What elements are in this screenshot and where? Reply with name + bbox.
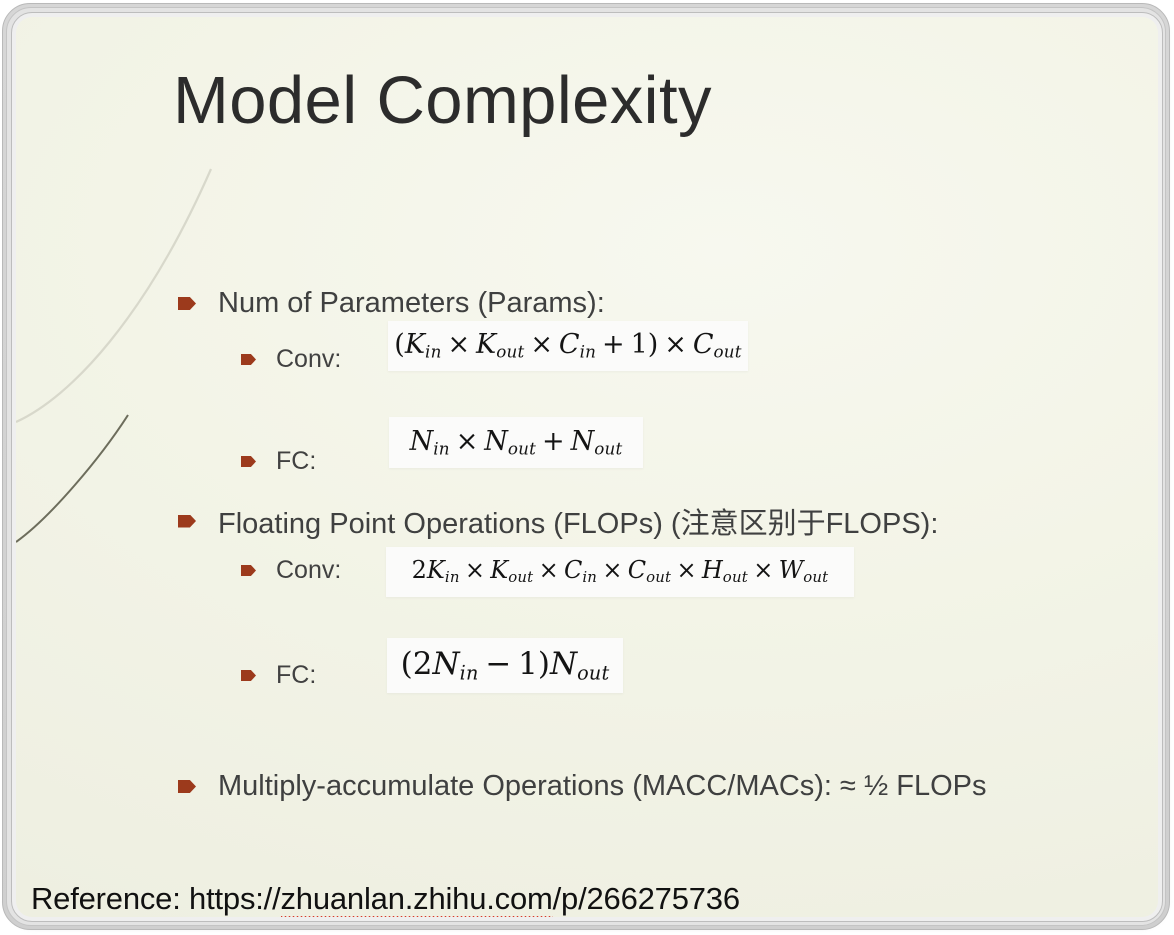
- reference-misspelled-url: zhuanlan.zhihu.com: [281, 881, 553, 917]
- sub-bullet-label: Conv:: [276, 556, 341, 585]
- sub-bullet-params-conv: Conv:: [241, 345, 341, 374]
- sub-bullet-flops-conv: Conv:: [241, 556, 341, 585]
- bullet-num-of-parameters: Num of Parameters (Params):: [178, 287, 605, 320]
- formula-box-flops-fc: (2Nin−1)Nout: [387, 638, 623, 693]
- arrow-pentagon-bullet-icon: [241, 456, 256, 467]
- bullet-label: Multiply-accumulate Operations (MACC/MAC…: [218, 770, 987, 803]
- formula-box-params-conv: (Kin×Kout×Cin+1)×Cout: [388, 321, 748, 371]
- slide-canvas: Model Complexity Num of Parameters (Para…: [16, 17, 1158, 917]
- formula-flops-conv: 2Kin×Kout×Cin×Cout×Hout×Wout: [412, 558, 829, 585]
- formula-flops-fc: (2Nin−1)Nout: [401, 649, 610, 683]
- sub-bullet-label: FC:: [276, 661, 316, 690]
- arrow-pentagon-bullet-icon: [178, 297, 196, 310]
- bullet-floating-point-operations: Floating Point Operations (FLOPs) (注意区别于…: [178, 500, 938, 542]
- arrow-pentagon-bullet-icon: [178, 780, 196, 793]
- page-title: Model Complexity: [173, 62, 712, 139]
- slide-root: Model Complexity Num of Parameters (Para…: [0, 0, 1174, 935]
- swoosh-line-lower: [16, 415, 128, 542]
- sub-bullet-label: Conv:: [276, 345, 341, 374]
- reference-footer: Reference: https://zhuanlan.zhihu.com/p/…: [31, 881, 740, 917]
- reference-prefix: Reference: https://: [31, 881, 281, 916]
- bullet-label: Num of Parameters (Params):: [218, 287, 605, 320]
- arrow-pentagon-bullet-icon: [241, 565, 256, 576]
- sub-bullet-flops-fc: FC:: [241, 661, 316, 690]
- formula-box-params-fc: Nin×Nout+Nout: [389, 417, 643, 468]
- arrow-pentagon-bullet-icon: [178, 515, 196, 528]
- arrow-pentagon-bullet-icon: [241, 670, 256, 681]
- formula-params-fc: Nin×Nout+Nout: [410, 428, 623, 457]
- bullet-label: Floating Point Operations (FLOPs) (注意区别于…: [218, 500, 938, 542]
- sub-bullet-label: FC:: [276, 447, 316, 476]
- bullet-multiply-accumulate: Multiply-accumulate Operations (MACC/MAC…: [178, 770, 987, 803]
- formula-params-conv: (Kin×Kout×Cin+1)×Cout: [394, 331, 741, 360]
- sub-bullet-params-fc: FC:: [241, 447, 316, 476]
- arrow-pentagon-bullet-icon: [241, 354, 256, 365]
- reference-suffix: /p/266275736: [553, 881, 740, 916]
- formula-box-flops-conv: 2Kin×Kout×Cin×Cout×Hout×Wout: [386, 547, 854, 597]
